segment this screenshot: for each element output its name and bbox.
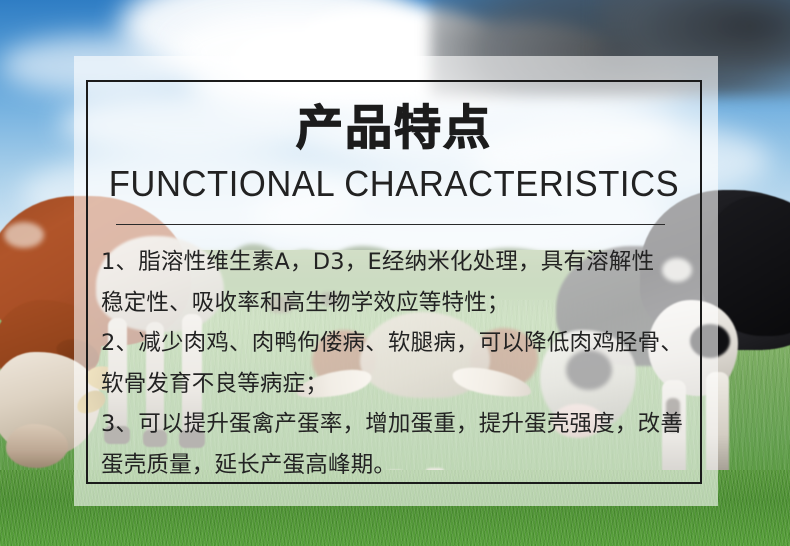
feature-line: 2、减少肉鸡、肉鸭佝偻病、软腿病，可以降低肉鸡胫骨、	[101, 323, 697, 364]
title-divider	[116, 224, 665, 225]
cow-muzzle	[6, 424, 68, 468]
feature-line: 蛋壳质量，延长产蛋高峰期。	[101, 445, 697, 486]
feature-line: 3、可以提升蛋禽产蛋率，增加蛋重，提升蛋壳强度，改善	[101, 404, 697, 445]
feature-list: 1、脂溶性维生素A，D3，E经纳米化处理，具有溶解性 稳定性、吸收率和高生物学效…	[101, 242, 697, 485]
page-subtitle: FUNCTIONAL CHARACTERISTICS	[98, 166, 689, 202]
banner-stage: 产品特点 FUNCTIONAL CHARACTERISTICS 1、脂溶性维生素…	[0, 0, 790, 546]
feature-line: 稳定性、吸收率和高生物学效应等特性；	[101, 283, 697, 324]
feature-line: 1、脂溶性维生素A，D3，E经纳米化处理，具有溶解性	[101, 242, 697, 283]
page-title: 产品特点	[86, 104, 702, 151]
feature-line: 软骨发育不良等病症；	[101, 364, 697, 405]
cow-spot	[4, 222, 44, 248]
feature-card-content: 产品特点 FUNCTIONAL CHARACTERISTICS 1、脂溶性维生素…	[86, 80, 702, 484]
